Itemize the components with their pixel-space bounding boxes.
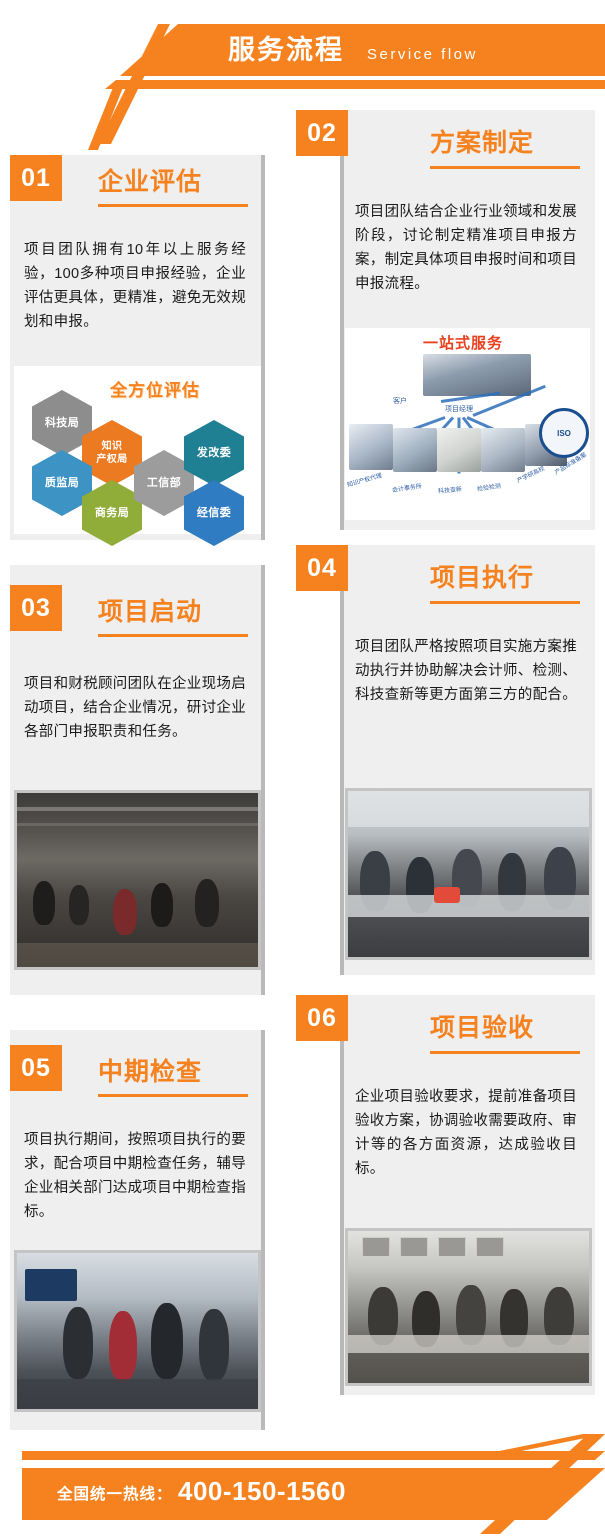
card-05-title: 中期检查 xyxy=(98,1057,202,1087)
oss-label-research: 科技查新 xyxy=(438,484,463,495)
card-03-title-rule xyxy=(98,634,248,637)
hex-graphic-title: 全方位评估 xyxy=(110,376,200,401)
card-02-badge: 02 xyxy=(296,110,348,156)
card-03-body: 项目和财税顾问团队在企业现场启动项目，结合企业情况，研讨企业各部门申报职责和任务… xyxy=(24,672,246,744)
card-05-badge: 05 xyxy=(10,1045,62,1091)
footer-accent-line xyxy=(22,1451,605,1460)
page-subtitle: Service flow xyxy=(367,42,478,68)
card-04-body: 项目团队严格按照项目实施方案推动执行并协助解决会计师、检测、科技查新等更方面第三… xyxy=(355,635,577,707)
card-03-photo xyxy=(14,790,261,970)
card-05-body: 项目执行期间，按照项目执行的要求，配合项目中期检查任务，辅导企业相关部门达成项目… xyxy=(24,1128,246,1224)
card-02-body: 项目团队结合企业行业领域和发展阶段，讨论制定精准项目申报方案，制定具体项目申报时… xyxy=(355,200,577,296)
card-04-photo-content xyxy=(348,791,589,957)
page-header: 服务流程 Service flow xyxy=(0,0,605,110)
oss-hero-photo xyxy=(423,354,531,396)
card-04-title: 项目执行 xyxy=(430,563,534,593)
card-06-photo-content xyxy=(348,1231,589,1383)
card-04-photo xyxy=(345,788,592,960)
card-04-title-rule xyxy=(430,601,580,604)
oss-label-testing: 检验检测 xyxy=(476,481,501,493)
card-06-badge: 06 xyxy=(296,995,348,1041)
card-04-badge: 04 xyxy=(296,545,348,591)
oss-photo-testing xyxy=(481,428,525,472)
card-01-title-rule xyxy=(98,204,248,207)
card-05-title-rule xyxy=(98,1094,248,1097)
oss-label-accounting: 会计事务所 xyxy=(391,481,422,494)
card-03-badge: 03 xyxy=(10,585,62,631)
oss-node-customer: 客户 xyxy=(393,396,407,406)
header-accent-line xyxy=(105,80,605,89)
card-03-title: 项目启动 xyxy=(98,597,202,627)
card-01-title: 企业评估 xyxy=(98,167,202,197)
oss-label-ip: 知识产权代理 xyxy=(346,470,383,489)
infographic-page: 服务流程 Service flow 01 企业评估 项目团队拥有10年以上服务经… xyxy=(0,0,605,1538)
page-title: 服务流程 xyxy=(228,31,344,69)
card-01-body: 项目团队拥有10年以上服务经验，100多种项目申报经验，企业评估更具体，更精准，… xyxy=(24,238,246,334)
hotline-number[interactable]: 400-150-1560 xyxy=(178,1476,346,1507)
header-banner xyxy=(120,24,605,76)
card-02-oss-graphic: 一站式服务 客户 项目经理 ISO 知识产权代理 会计事务所 科技查新 检验检测… xyxy=(345,328,590,520)
card-06-photo xyxy=(345,1228,592,1386)
oss-node-manager: 项目经理 xyxy=(445,404,473,414)
card-06-title: 项目验收 xyxy=(430,1013,534,1043)
card-06-body: 企业项目验收要求，提前准备项目验收方案，协调验收需要政府、审计等的各方面资源，达… xyxy=(355,1085,577,1181)
oss-photo-ip xyxy=(349,424,393,470)
card-06-title-rule xyxy=(430,1051,580,1054)
oss-photo-accounting xyxy=(393,428,437,472)
card-05-photo-content xyxy=(17,1253,258,1409)
page-footer: 全国统一热线： 400-150-1560 xyxy=(0,1418,605,1538)
card-01-badge: 01 xyxy=(10,155,62,201)
card-05-photo xyxy=(14,1250,261,1412)
oss-graphic-title: 一站式服务 xyxy=(423,332,503,353)
oss-photo-research xyxy=(437,428,481,472)
card-03-photo-content xyxy=(17,793,258,967)
card-02-title: 方案制定 xyxy=(430,128,534,158)
card-01-hex-graphic: 全方位评估 科技局 知识产权局 质监局 商务局 工信部 发改委 经信委 xyxy=(14,366,261,534)
hotline-label: 全国统一热线： xyxy=(57,1482,173,1504)
card-02-title-rule xyxy=(430,166,580,169)
